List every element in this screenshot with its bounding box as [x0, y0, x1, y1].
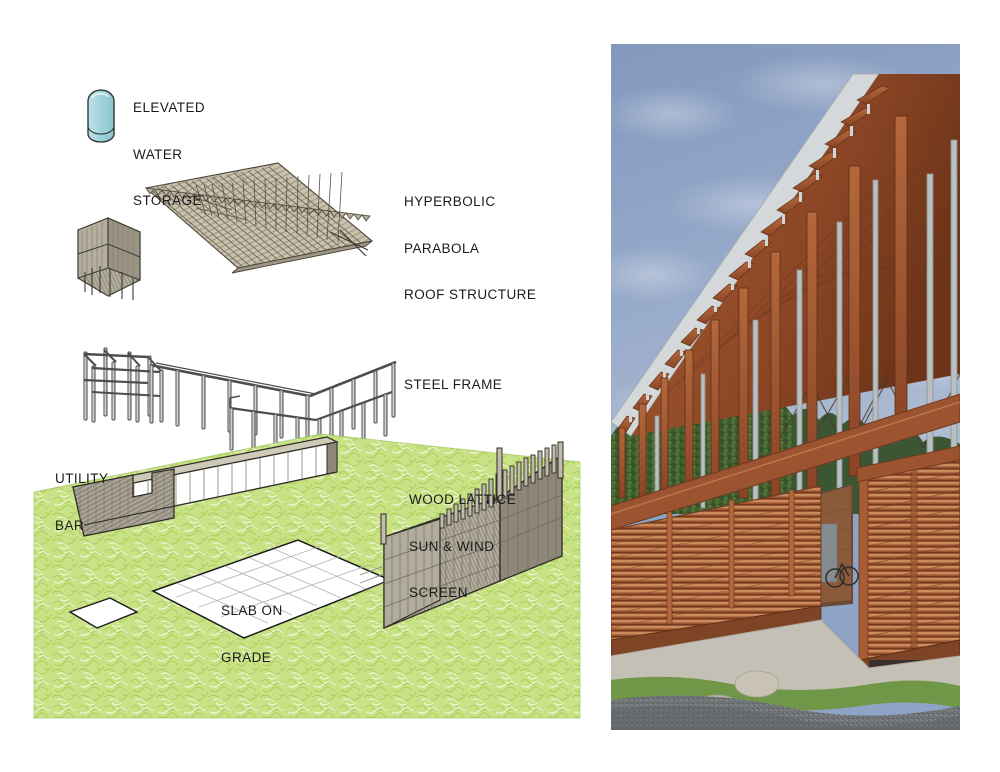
diagram-board: ELEVATED WATER STORAGE HYPERBOLIC PARABO… [0, 0, 1000, 772]
pavilion-photograph [611, 44, 960, 730]
label-slab-on-grade: SLAB ON GRADE [221, 572, 283, 696]
photo-lattice-right [857, 446, 960, 676]
label-steel-frame: STEEL FRAME [404, 346, 502, 424]
component-utility-module [78, 218, 140, 300]
photograph-content [611, 44, 960, 730]
exploded-axonometric-diagram [0, 0, 611, 772]
component-water-tank [88, 90, 114, 142]
label-utility-bar: UTILITY BAR [55, 440, 108, 564]
label-wood-lattice-sun-wind-screen: WOOD LATTICE SUN & WIND SCREEN [409, 461, 516, 632]
label-hyperbolic-parabola-roof: HYPERBOLIC PARABOLA ROOF STRUCTURE [404, 163, 536, 334]
label-elevated-water-storage: ELEVATED WATER STORAGE [133, 69, 205, 240]
